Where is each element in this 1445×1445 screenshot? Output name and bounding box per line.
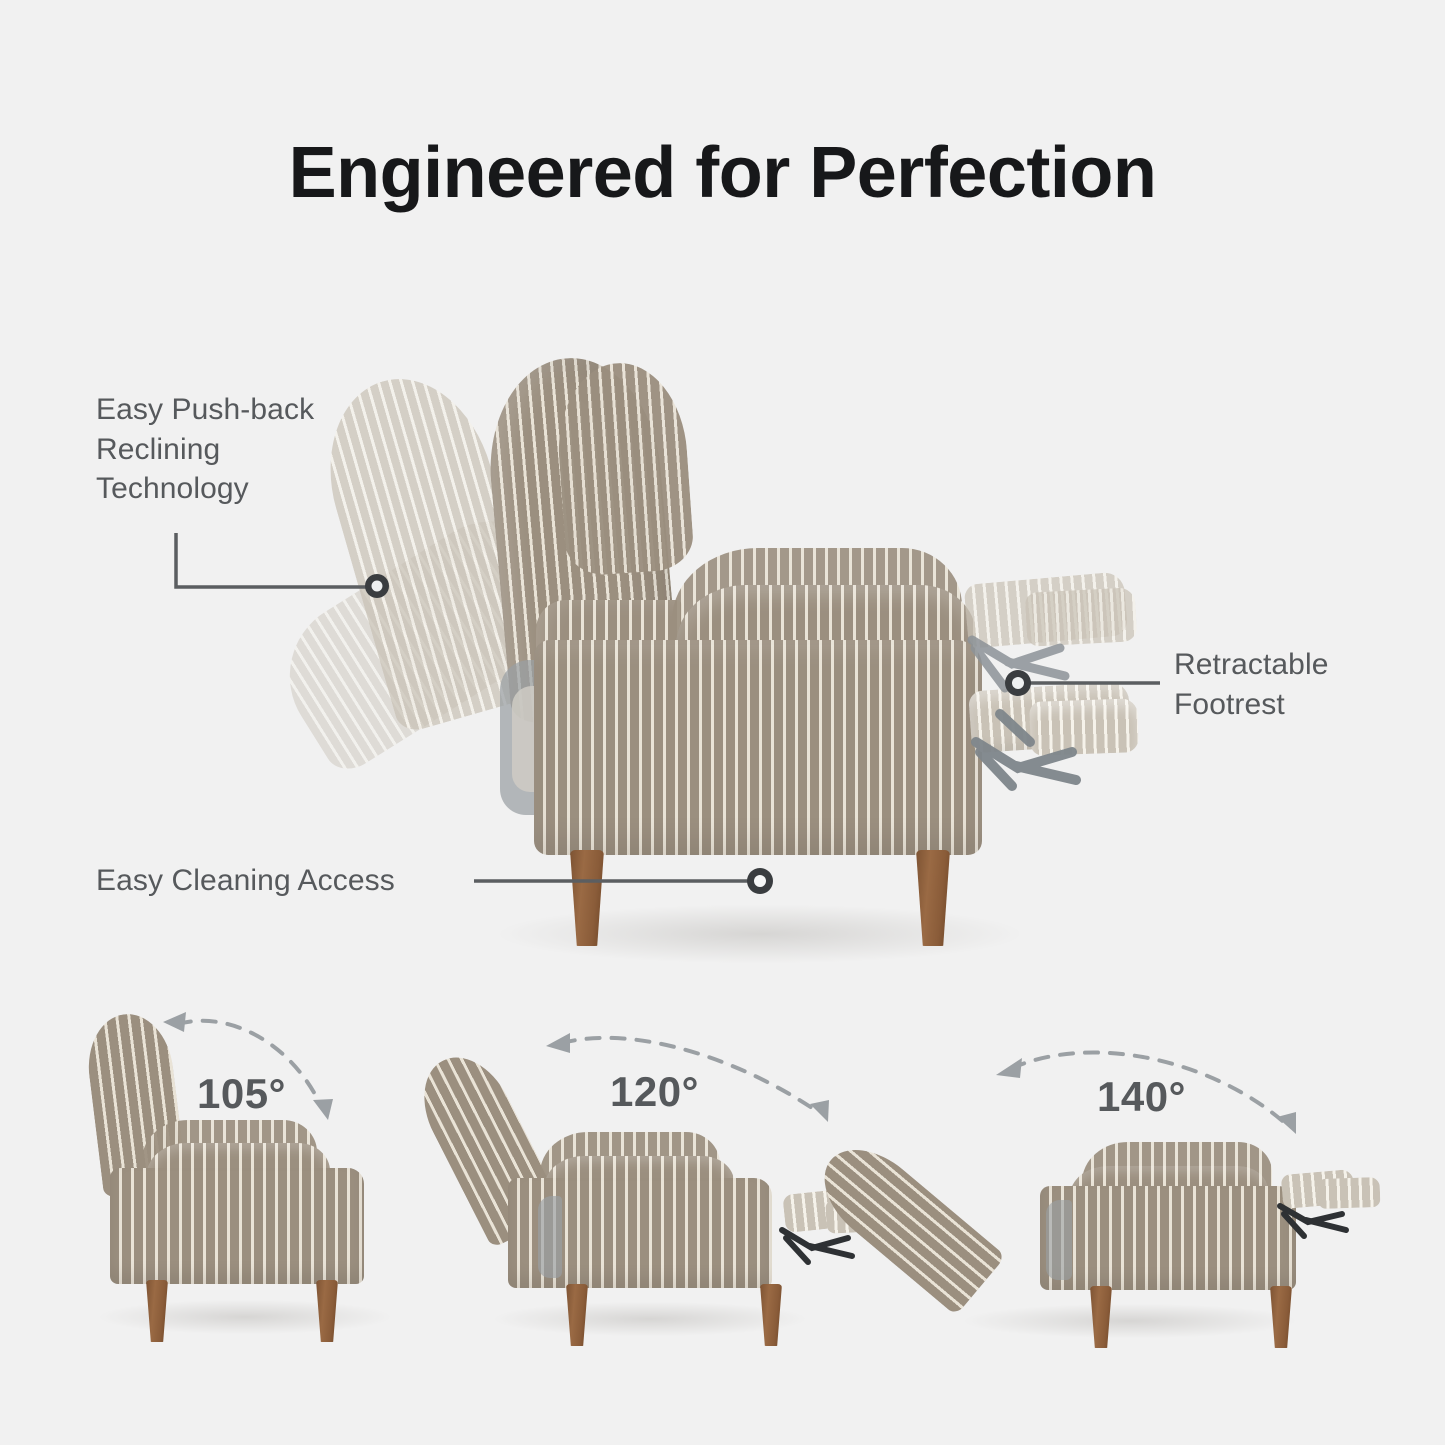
angle-label-105: 105°: [197, 1070, 286, 1118]
leg-rear-105: [316, 1280, 338, 1342]
floor-shadow-105: [100, 1300, 390, 1334]
leg-rear-120: [760, 1284, 782, 1346]
footrest-panel-extension: [1029, 698, 1139, 756]
side-panel-105: [110, 1168, 364, 1284]
footrest-extension-140: [1317, 1177, 1380, 1209]
leader-line-reclining: [176, 533, 369, 587]
recline-mechanism-120: [538, 1196, 562, 1278]
headrest-cushion: [553, 359, 695, 577]
leg-front-105: [146, 1280, 168, 1342]
chair-side-panel: [534, 640, 982, 855]
callout-label-footrest: Retractable Footrest: [1174, 645, 1329, 724]
page-title: Engineered for Perfection: [0, 132, 1445, 214]
floor-shadow-120: [495, 1302, 805, 1336]
side-panel-140: [1040, 1186, 1296, 1290]
leg-front-140: [1090, 1286, 1112, 1348]
floor-shadow-140: [965, 1304, 1295, 1338]
angle-label-120: 120°: [610, 1068, 699, 1116]
recline-mechanism-140: [1046, 1200, 1072, 1280]
leg-rear-140: [1270, 1286, 1292, 1348]
angle-label-140: 140°: [1097, 1073, 1186, 1121]
footrest-ghost-extension: [1025, 587, 1138, 647]
leg-front-120: [566, 1284, 588, 1346]
infographic-canvas: Engineered for Perfection: [0, 0, 1445, 1445]
ring-marker-icon-cleaning: [747, 868, 773, 894]
callout-label-reclining: Easy Push-back Reclining Technology: [96, 390, 314, 509]
callout-label-cleaning: Easy Cleaning Access: [96, 861, 395, 901]
